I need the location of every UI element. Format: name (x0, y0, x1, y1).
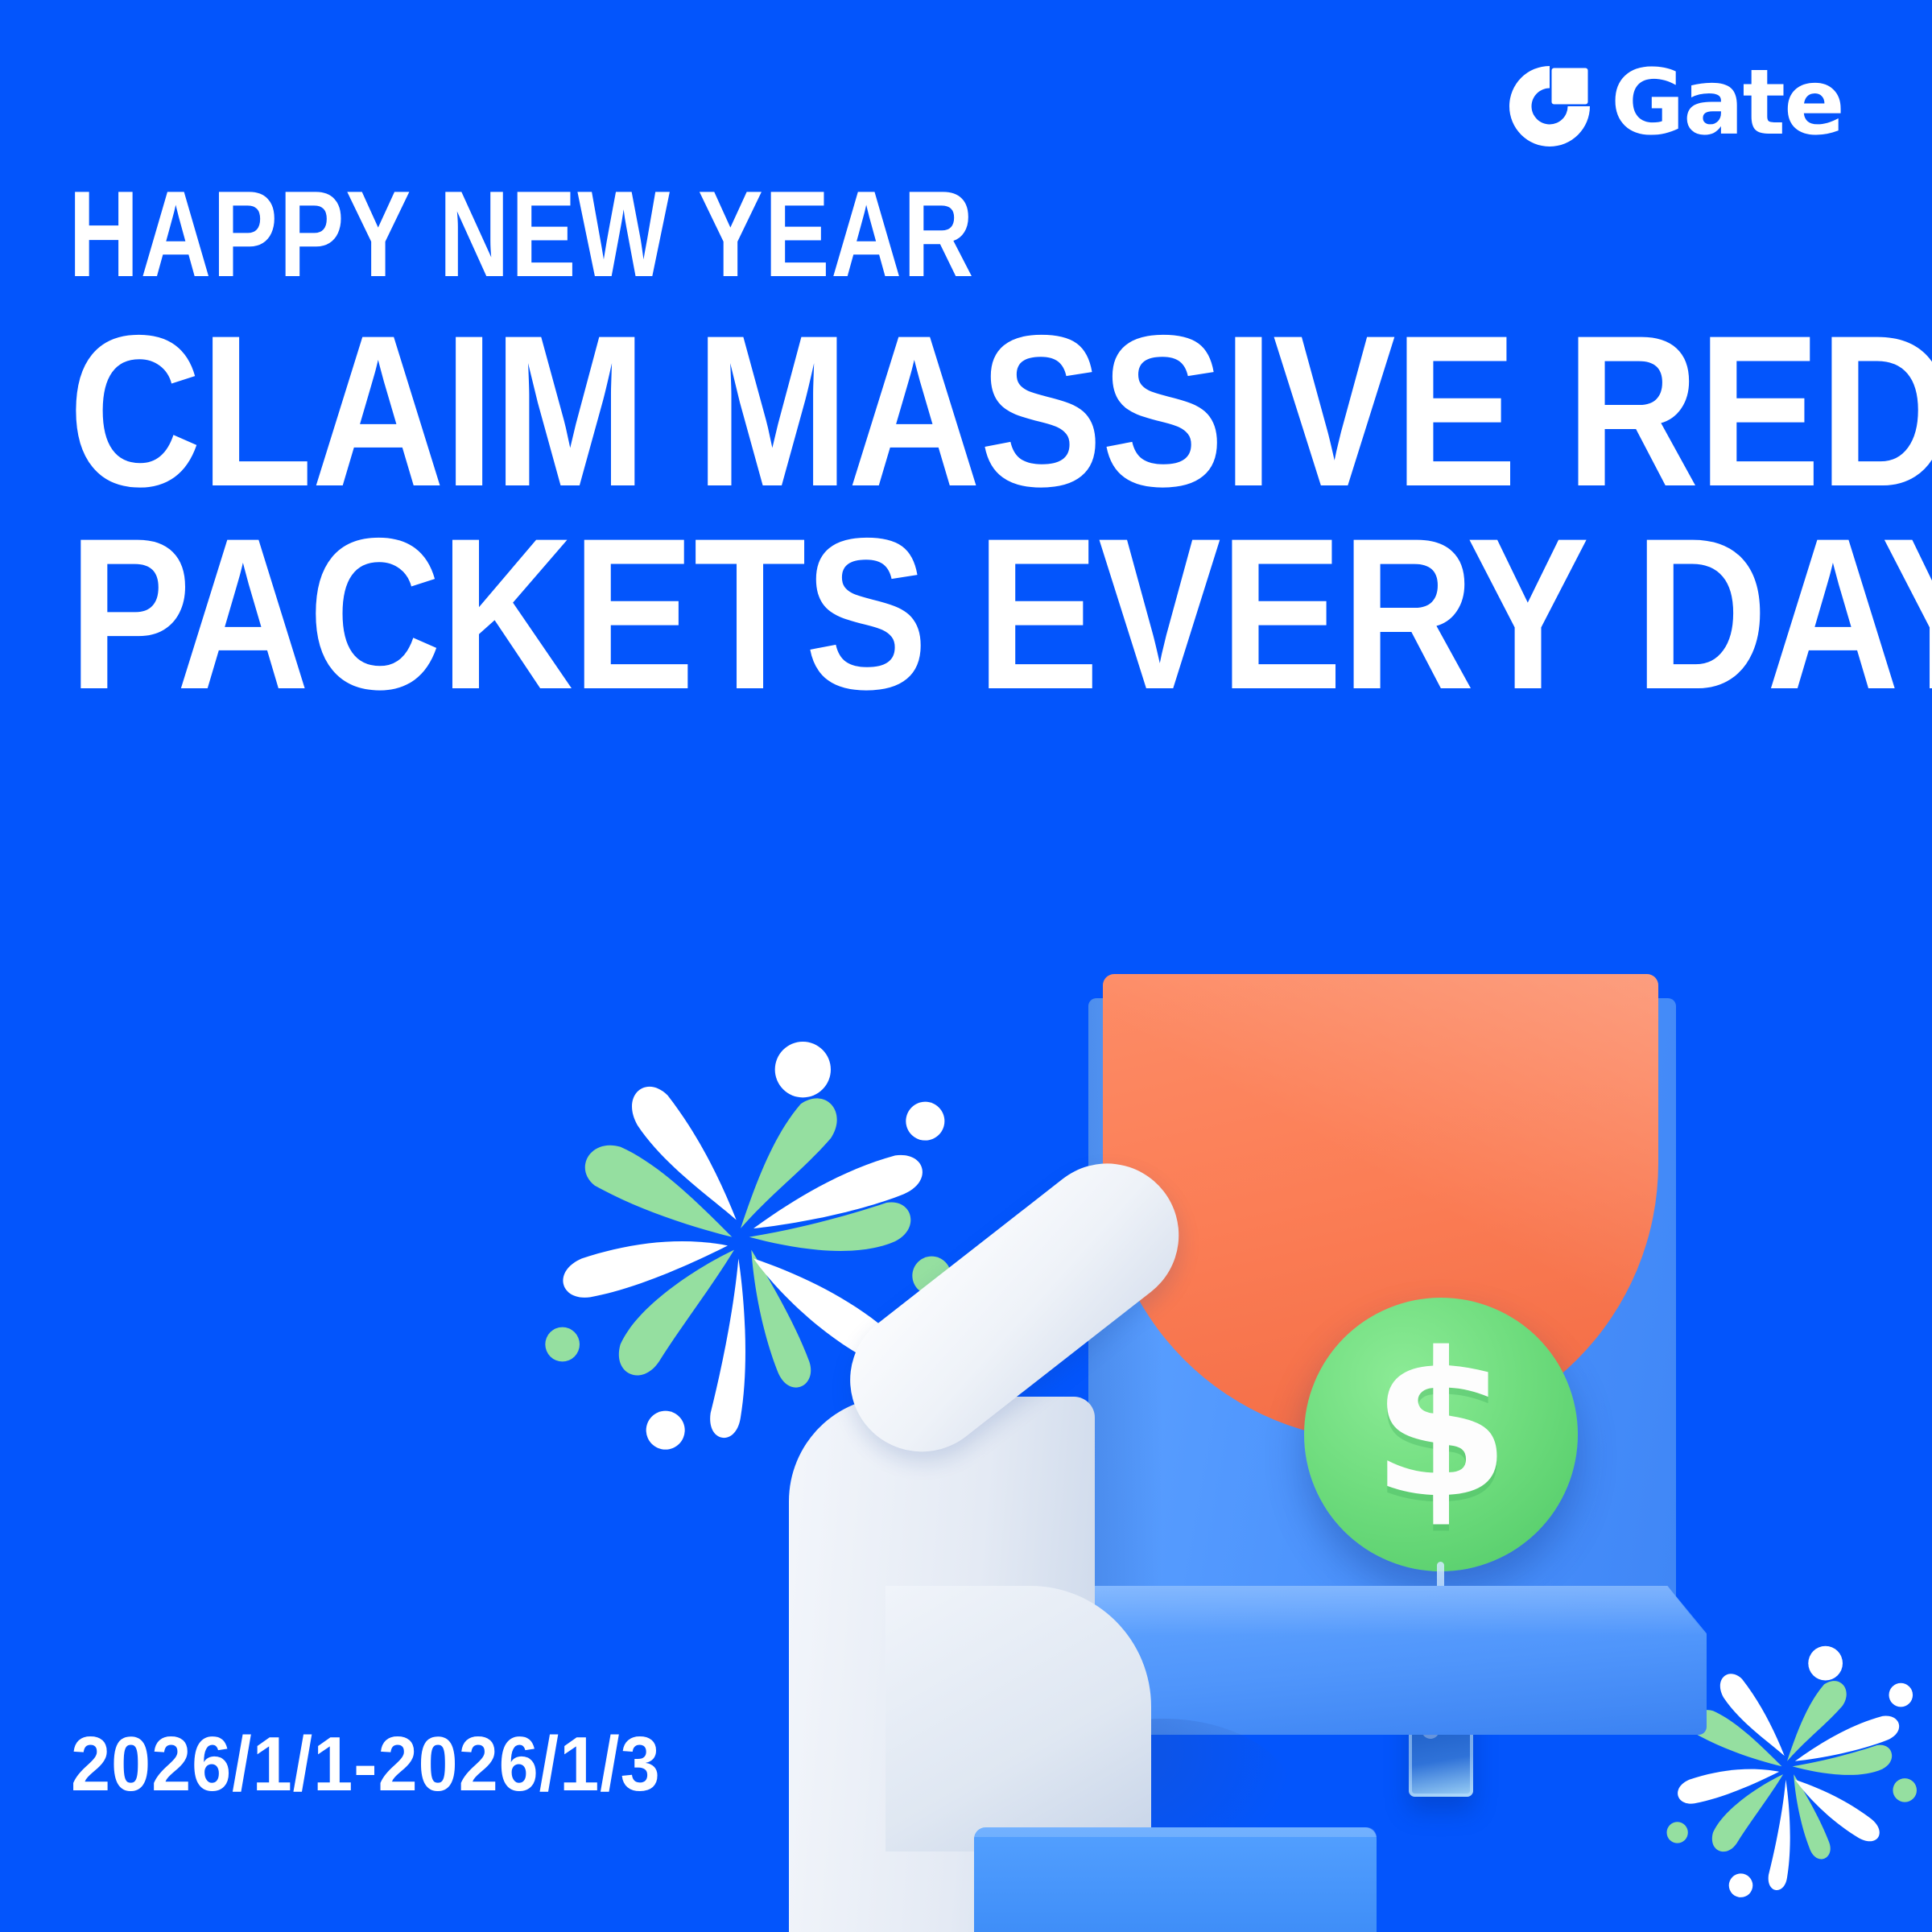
coin-badge: $ (1304, 1298, 1578, 1571)
red-packet-illustration: $ (789, 950, 1932, 1932)
brand-wordmark: Gate (1611, 64, 1843, 142)
gate-circle-logo-icon (1506, 63, 1593, 150)
hand-knuckle (885, 1586, 1151, 1851)
brand-logo: Gate (1506, 63, 1843, 150)
envelope-lip-highlight (1055, 1586, 1707, 1636)
pedestal-base (974, 1827, 1377, 1932)
page-title: CLAIM MASSIVE RED PACKETS EVERY DAY (68, 310, 1864, 716)
headline-block: HAPPY NEW YEAR CLAIM MASSIVE RED PACKETS… (68, 173, 1864, 716)
promo-banner: Gate HAPPY NEW YEAR CLAIM MASSIVE RED PA… (0, 0, 1932, 1932)
promo-date-range: 2026/1/1-2026/1/3 (71, 1726, 661, 1803)
eyebrow-text: HAPPY NEW YEAR (68, 173, 1505, 295)
headline-line-1: CLAIM MASSIVE RED (68, 310, 1604, 513)
headline-line-2: PACKETS EVERY DAY (68, 513, 1604, 716)
dollar-sign-icon: $ (1372, 1327, 1511, 1526)
